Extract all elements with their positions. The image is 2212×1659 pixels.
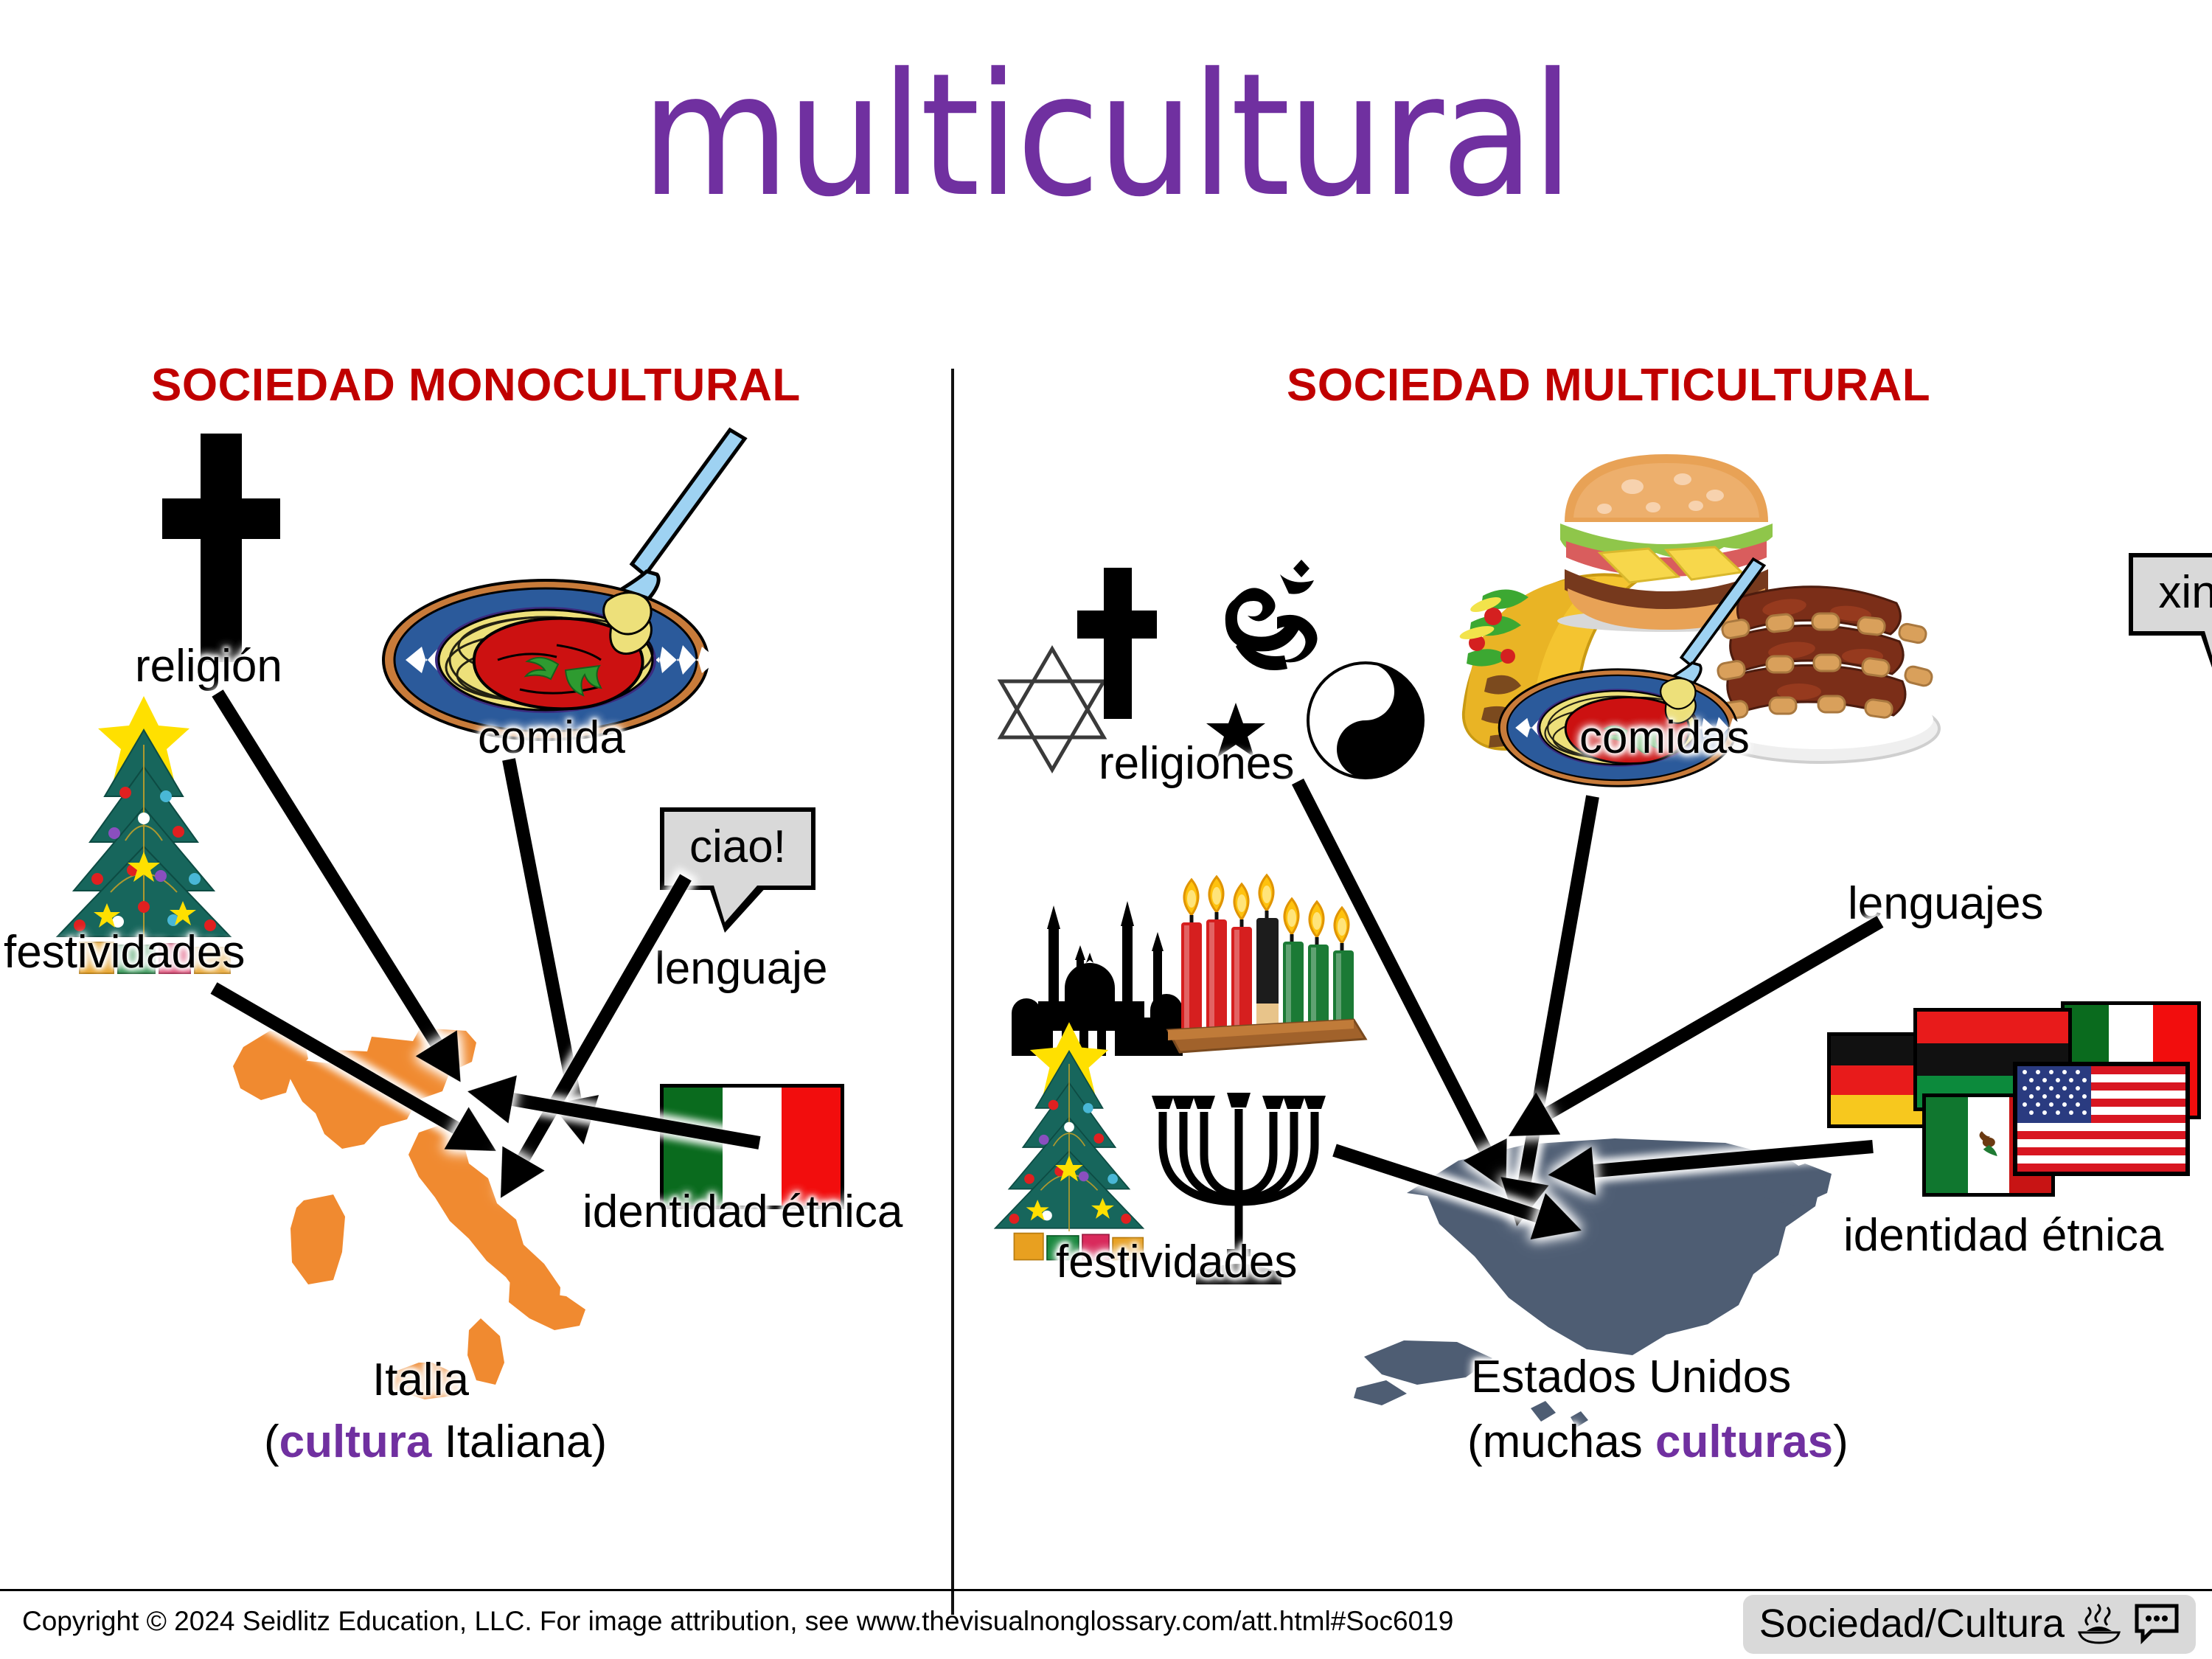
right-column-heading: SOCIEDAD MULTICULTURAL: [1287, 359, 1930, 411]
speech-bubble-text: ciao!: [664, 812, 811, 886]
label-culture-left: (cultura Italiana): [264, 1416, 607, 1468]
label-country-right: Estados Unidos: [1471, 1351, 1791, 1403]
copyright-text: Copyright © 2024 Seidlitz Education, LLC…: [22, 1606, 1453, 1637]
label-comidas: comidas: [1579, 712, 1750, 764]
culture-suffix: ): [1833, 1416, 1848, 1467]
category-badge: Sociedad/Cultura: [1743, 1595, 2196, 1654]
label-identidad-right: identidad étnica: [1843, 1209, 2163, 1262]
category-badge-label: Sociedad/Cultura: [1759, 1601, 2065, 1646]
label-comida-left: comida: [478, 712, 625, 764]
speech-balloon-icon: [2134, 1603, 2180, 1644]
yin-yang-icon: [1305, 660, 1427, 782]
culture-suffix: Italiana): [431, 1416, 607, 1467]
usa-flag-icon: [2013, 1062, 2190, 1176]
label-religiones: religiones: [1099, 737, 1294, 790]
om-icon: [1224, 557, 1331, 675]
culture-word: cultura: [279, 1416, 432, 1467]
culture-word: culturas: [1655, 1416, 1833, 1467]
label-country-left: Italia: [372, 1354, 469, 1406]
spaghetti-plate-icon: [372, 417, 774, 748]
left-column-heading: SOCIEDAD MONOCULTURAL: [151, 359, 801, 411]
culture-prefix: (muchas: [1467, 1416, 1655, 1467]
page-title: multicultural: [0, 52, 2212, 221]
label-festividades-left: festividades: [4, 926, 245, 978]
label-religion-left: religión: [135, 640, 282, 692]
kwanzaa-candles-icon: [1165, 866, 1368, 1088]
christian-cross-icon: [155, 434, 288, 662]
speech-bubble-text: xin chào: [2133, 557, 2212, 631]
soup-bowl-icon: [2076, 1603, 2122, 1644]
label-lenguaje-left: lenguaje: [655, 942, 827, 995]
column-divider: [951, 369, 954, 1615]
label-culture-right: (muchas culturas): [1467, 1416, 1848, 1468]
culture-prefix: (: [264, 1416, 279, 1467]
speech-bubble-xin-chao: xin chào: [2129, 553, 2212, 636]
label-festividades-right: festividades: [1056, 1236, 1297, 1288]
footer-divider: [0, 1589, 2212, 1591]
